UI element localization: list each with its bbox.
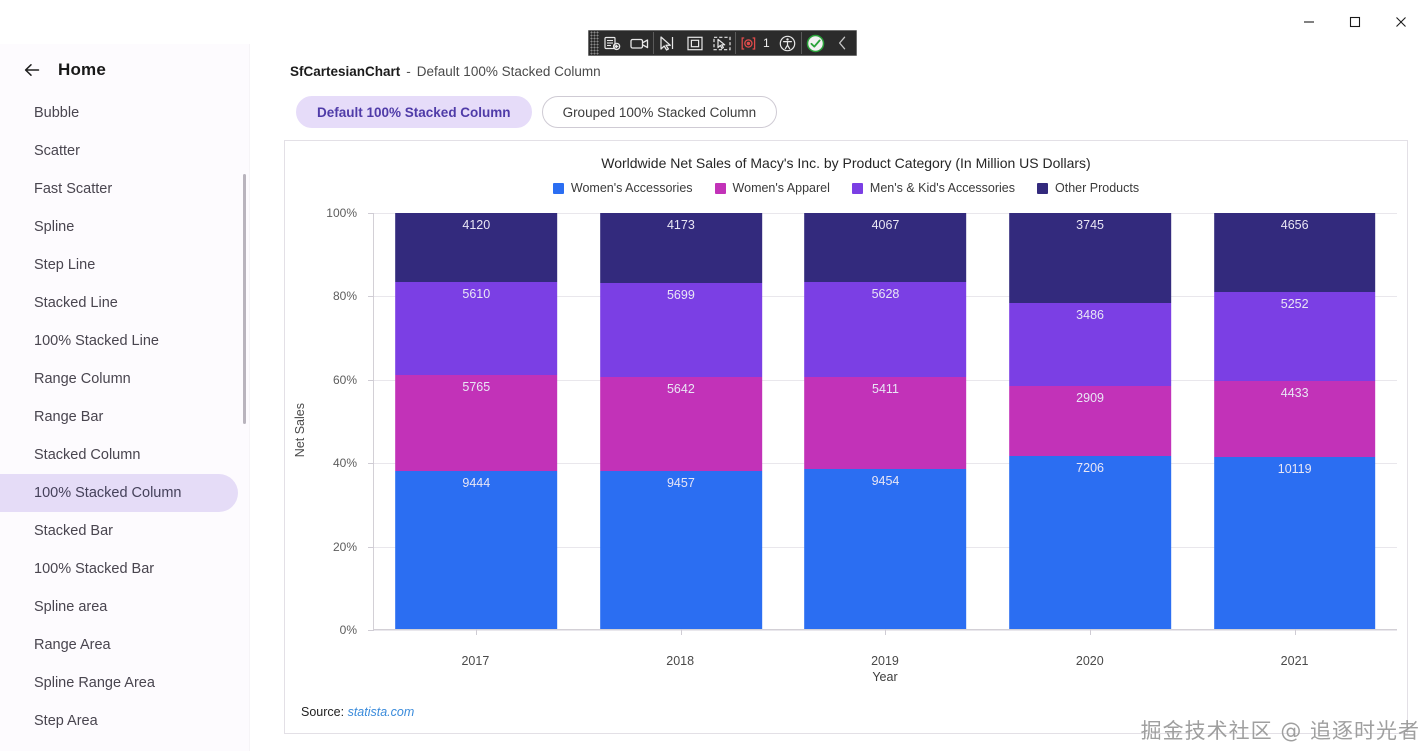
bar-segment[interactable]: 5411 <box>805 377 967 469</box>
bar-segment[interactable]: 4433 <box>1214 381 1376 456</box>
bar-segment[interactable]: 5628 <box>805 282 967 377</box>
sidebar-item-step-line[interactable]: Step Line <box>0 246 238 284</box>
legend-swatch-icon <box>715 183 726 194</box>
chart-source: Source: statista.com <box>301 705 414 719</box>
cursor-icon[interactable] <box>654 31 681 55</box>
sidebar-item-bubble[interactable]: Bubble <box>0 94 238 132</box>
recording-indicator-icon[interactable] <box>736 31 763 55</box>
maximize-button[interactable] <box>1332 0 1378 44</box>
legend-item[interactable]: Women's Apparel <box>715 181 830 195</box>
bar-segment[interactable]: 4656 <box>1214 213 1376 292</box>
plot-area-wrapper: Net Sales 0%20%40%60%80%100% 41205610576… <box>285 213 1409 735</box>
sidebar-item-stacked-column[interactable]: Stacked Column <box>0 436 238 474</box>
sidebar-item-label: Scatter <box>34 143 80 159</box>
sidebar-item-scatter[interactable]: Scatter <box>0 132 238 170</box>
bar-group: 3745348629097206 <box>988 213 1193 629</box>
bar-value-label: 9454 <box>805 474 967 488</box>
sidebar-item-label: Stacked Line <box>34 295 118 311</box>
y-axis-ticks: 0%20%40%60%80%100% <box>305 213 357 630</box>
bar-segment[interactable]: 5252 <box>1214 292 1376 381</box>
bar-segment[interactable]: 5642 <box>600 377 762 471</box>
chart-title: Worldwide Net Sales of Macy's Inc. by Pr… <box>285 141 1407 171</box>
legend-swatch-icon <box>553 183 564 194</box>
sidebar-item-label: Step Area <box>34 713 98 729</box>
y-tick-label: 80% <box>311 289 357 303</box>
bar-value-label: 3745 <box>1009 218 1171 232</box>
legend-item[interactable]: Women's Accessories <box>553 181 693 195</box>
x-axis-label: 2018 <box>578 630 783 668</box>
sidebar-item-100-stacked-line[interactable]: 100% Stacked Line <box>0 322 238 360</box>
x-axis-label: 2017 <box>373 630 578 668</box>
bar-value-label: 4067 <box>805 218 967 232</box>
app-window: 1 Home BubbleScatterFast ScatterSplineSt… <box>0 0 1424 751</box>
y-tick-label: 0% <box>311 623 357 637</box>
confirm-check-icon[interactable] <box>802 31 829 55</box>
bar-value-label: 5699 <box>600 288 762 302</box>
sidebar-item-label: 100% Stacked Column <box>34 485 182 501</box>
capture-cursor-region-icon[interactable] <box>708 31 735 55</box>
sidebar-item-label: Stacked Bar <box>34 523 113 539</box>
bar-segment[interactable]: 2909 <box>1009 386 1171 456</box>
legend-item[interactable]: Men's & Kid's Accessories <box>852 181 1015 195</box>
bar-value-label: 5642 <box>600 382 762 396</box>
legend-item[interactable]: Other Products <box>1037 181 1139 195</box>
bar-segment[interactable]: 3486 <box>1009 303 1171 387</box>
bar-segment[interactable]: 4120 <box>395 213 557 282</box>
bar-segment[interactable]: 9454 <box>805 469 967 629</box>
sidebar-item-label: Stacked Column <box>34 447 140 463</box>
sidebar-item-spline-range-area[interactable]: Spline Range Area <box>0 664 238 702</box>
legend-label: Men's & Kid's Accessories <box>870 181 1015 195</box>
stacked-bar[interactable]: 4067562854119454 <box>805 213 967 629</box>
stacked-bar[interactable]: 4173569956429457 <box>600 213 762 629</box>
x-axis-labels: 20172018201920202021 <box>373 630 1397 668</box>
stacked-bar[interactable]: 46565252443310119 <box>1214 213 1376 629</box>
minimize-button[interactable] <box>1286 0 1332 44</box>
tab-label: Grouped 100% Stacked Column <box>563 105 757 120</box>
bar-value-label: 3486 <box>1009 308 1171 322</box>
y-tick-label: 40% <box>311 456 357 470</box>
sidebar-item-fast-scatter[interactable]: Fast Scatter <box>0 170 238 208</box>
source-link[interactable]: statista.com <box>348 705 415 719</box>
back-arrow-icon[interactable] <box>22 60 42 80</box>
legend-label: Women's Apparel <box>733 181 830 195</box>
toolbar-drag-handle[interactable] <box>590 31 599 55</box>
breadcrumb-separator: - <box>406 64 411 79</box>
bar-value-label: 5628 <box>805 287 967 301</box>
legend-swatch-icon <box>1037 183 1048 194</box>
close-icon <box>1395 16 1407 28</box>
bar-segment[interactable]: 5699 <box>600 283 762 378</box>
sidebar-item-label: Fast Scatter <box>34 181 112 197</box>
bar-value-label: 5765 <box>395 380 557 394</box>
sidebar-item-label: 100% Stacked Line <box>34 333 159 349</box>
y-tick-label: 100% <box>311 206 357 220</box>
maximize-icon <box>1349 16 1361 28</box>
bar-segment[interactable]: 5765 <box>395 375 557 471</box>
bar-value-label: 5252 <box>1214 297 1376 311</box>
sidebar-item-range-bar[interactable]: Range Bar <box>0 398 238 436</box>
accessibility-icon[interactable] <box>774 31 801 55</box>
bar-value-label: 10119 <box>1214 462 1376 476</box>
camera-icon[interactable] <box>626 31 653 55</box>
bar-value-label: 5610 <box>395 287 557 301</box>
sidebar-item-label: 100% Stacked Bar <box>34 561 154 577</box>
sidebar-title: Home <box>58 60 106 80</box>
sidebar-item-label: Step Line <box>34 257 95 273</box>
sidebar-item-100-stacked-column[interactable]: 100% Stacked Column <box>0 474 238 512</box>
watermark: 掘金技术社区 @ 追逐时光者 <box>1141 715 1420 745</box>
plot-area: 4120561057659444417356995642945740675628… <box>373 213 1397 630</box>
sidebar-item-label: Bubble <box>34 105 79 121</box>
sidebar-item-spline-area[interactable]: Spline area <box>0 588 238 626</box>
bar-value-label: 5411 <box>805 382 967 396</box>
bar-value-label: 9457 <box>600 476 762 490</box>
bar-segment[interactable]: 9444 <box>395 471 557 629</box>
stacked-bar[interactable]: 3745348629097206 <box>1009 213 1171 629</box>
sidebar-item-100-stacked-bar[interactable]: 100% Stacked Bar <box>0 550 238 588</box>
bar-value-label: 4433 <box>1214 386 1376 400</box>
bar-group: 4173569956429457 <box>579 213 784 629</box>
select-region-icon[interactable] <box>681 31 708 55</box>
x-axis-label: 2020 <box>987 630 1192 668</box>
bar-segment[interactable]: 4067 <box>805 213 967 282</box>
chart-card: Worldwide Net Sales of Macy's Inc. by Pr… <box>284 140 1408 734</box>
sidebar-item-stacked-bar[interactable]: Stacked Bar <box>0 512 238 550</box>
sidebar-item-stacked-line[interactable]: Stacked Line <box>0 284 238 322</box>
tab-bar: Default 100% Stacked ColumnGrouped 100% … <box>250 79 1424 128</box>
bar-group: 46565252443310119 <box>1192 213 1397 629</box>
sidebar: Home BubbleScatterFast ScatterSplineStep… <box>0 44 250 751</box>
y-tick-label: 20% <box>311 540 357 554</box>
sidebar-item-label: Range Bar <box>34 409 103 425</box>
x-axis-title: Year <box>373 670 1397 684</box>
screen-capture-settings-icon[interactable] <box>599 31 626 55</box>
x-axis-label: 2021 <box>1192 630 1397 668</box>
legend-label: Women's Accessories <box>571 181 693 195</box>
bar-segment[interactable]: 3745 <box>1009 213 1171 303</box>
bar-segment[interactable]: 9457 <box>600 471 762 629</box>
collapse-chevron-icon[interactable] <box>829 31 856 55</box>
bar-group: 4120561057659444 <box>374 213 579 629</box>
chart-legend: Women's AccessoriesWomen's ApparelMen's … <box>285 171 1407 195</box>
minimize-icon <box>1303 16 1315 28</box>
tab-grouped-100-stacked-column[interactable]: Grouped 100% Stacked Column <box>542 96 778 128</box>
stacked-bar[interactable]: 4120561057659444 <box>395 213 557 629</box>
sidebar-item-label: Spline <box>34 219 74 235</box>
sidebar-item-label: Range Column <box>34 371 131 387</box>
screen-recording-toolbar[interactable]: 1 <box>588 30 857 56</box>
sidebar-item-label: Spline area <box>34 599 107 615</box>
sidebar-item-range-column[interactable]: Range Column <box>0 360 238 398</box>
sidebar-item-spline[interactable]: Spline <box>0 208 238 246</box>
main-content: SfCartesianChart - Default 100% Stacked … <box>250 44 1424 751</box>
recording-count: 1 <box>763 36 774 50</box>
bar-segment[interactable]: 5610 <box>395 282 557 376</box>
bar-group: 4067562854119454 <box>783 213 988 629</box>
sidebar-nav-list: BubbleScatterFast ScatterSplineStep Line… <box>0 90 250 740</box>
sidebar-item-step-area[interactable]: Step Area <box>0 702 238 740</box>
bar-segment[interactable]: 4173 <box>600 213 762 283</box>
y-tick-label: 60% <box>311 373 357 387</box>
breadcrumb-current: Default 100% Stacked Column <box>417 64 601 79</box>
bar-segment[interactable]: 10119 <box>1214 457 1376 629</box>
sidebar-item-label: Spline Range Area <box>34 675 155 691</box>
tab-label: Default 100% Stacked Column <box>317 105 511 120</box>
sidebar-scrollbar[interactable] <box>243 174 246 424</box>
bar-segment[interactable]: 7206 <box>1009 456 1171 629</box>
bar-value-label: 9444 <box>395 476 557 490</box>
breadcrumb-root: SfCartesianChart <box>290 64 400 79</box>
bar-value-label: 7206 <box>1009 461 1171 475</box>
sidebar-header[interactable]: Home <box>0 44 250 90</box>
legend-swatch-icon <box>852 183 863 194</box>
close-button[interactable] <box>1378 0 1424 44</box>
bar-value-label: 2909 <box>1009 391 1171 405</box>
sidebar-item-range-area[interactable]: Range Area <box>0 626 238 664</box>
tab-default-100-stacked-column[interactable]: Default 100% Stacked Column <box>296 96 532 128</box>
bar-series-container: 4120561057659444417356995642945740675628… <box>374 213 1397 629</box>
x-axis-label: 2019 <box>783 630 988 668</box>
legend-label: Other Products <box>1055 181 1139 195</box>
bar-value-label: 4120 <box>395 218 557 232</box>
bar-value-label: 4656 <box>1214 218 1376 232</box>
source-label: Source: <box>301 705 344 719</box>
bar-value-label: 4173 <box>600 218 762 232</box>
sidebar-item-label: Range Area <box>34 637 111 653</box>
